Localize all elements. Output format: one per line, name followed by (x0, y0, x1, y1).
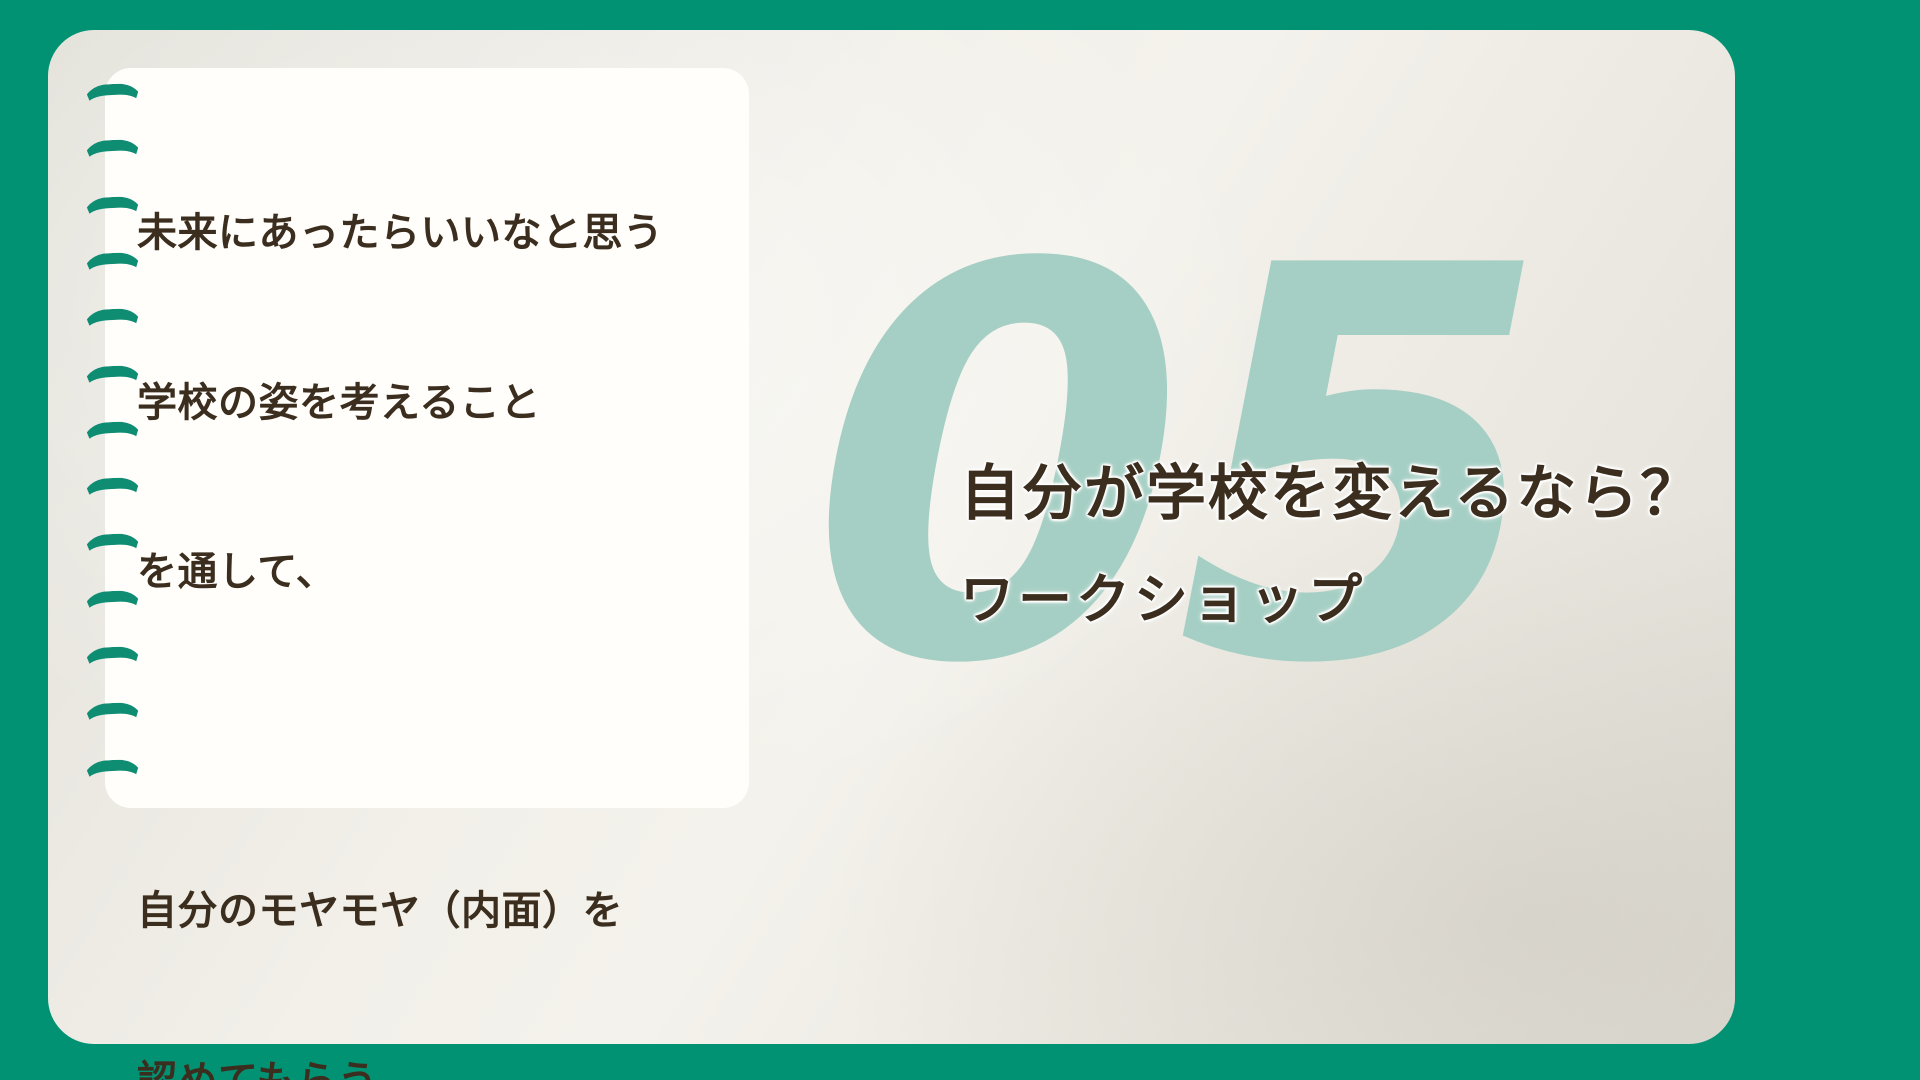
notebook-line: 未来にあったらいいなと思う (137, 205, 739, 262)
notebook-line: を通して、 (137, 544, 739, 601)
notebook-line: 学校の姿を考えること (137, 375, 739, 432)
notebook-paper: 未来にあったらいいなと思う 学校の姿を考えること を通して、 自分のモヤモヤ（内… (105, 68, 749, 808)
notebook-line: 自分のモヤモヤ（内面）を (137, 883, 739, 940)
notebook-text-block: 未来にあったらいいなと思う 学校の姿を考えること を通して、 自分のモヤモヤ（内… (137, 92, 739, 798)
headings-block: 自分が学校を変えるなら？ ワークショップ (960, 455, 1820, 635)
slide-canvas: 05 未来にあったらいいなと思う 学校の姿を考えること を通して、 自分のモヤモ… (0, 0, 1920, 1080)
slide-subtitle: ワークショップ (960, 565, 1820, 635)
notebook-line: 認めてもらう。 (137, 1053, 739, 1080)
notebook-line-blank (137, 714, 739, 771)
slide-title: 自分が学校を変えるなら？ (960, 455, 1820, 533)
